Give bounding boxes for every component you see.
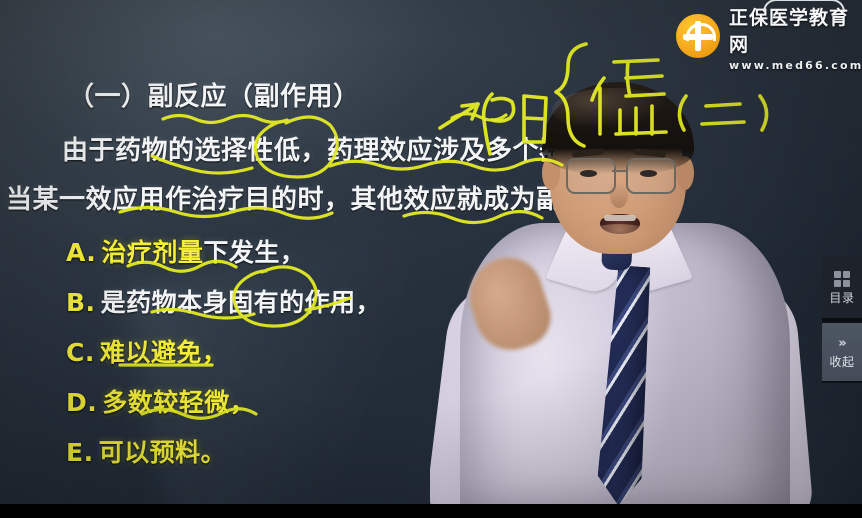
cross-circle-icon [676,14,720,58]
slide-title: （一）副反应（副作用） [68,76,360,113]
brand-arc-decoration [763,0,845,12]
option-a-marker: A. [66,238,96,267]
option-b-text-lead: 是药物本身 [101,288,229,317]
option-b-text: 的作用， [279,288,381,317]
lecturer-chin [580,224,658,254]
option-e-text: 可以预料。 [99,438,227,467]
brand-name-text: 正保医学教育网 [729,7,849,56]
option-d-marker: D. [66,388,97,417]
lecturer-nose [610,182,628,208]
catalog-button[interactable]: 目录 [822,256,862,318]
collapse-button[interactable]: » 收起 [822,321,862,383]
lecturer-video-figure [430,58,860,504]
brand-logo: 正保医学教育网 www.med66.com [676,10,856,62]
option-a-highlight: 治疗剂量 [101,238,203,267]
option-a: A.治疗剂量下发生， [66,233,305,269]
video-player-frame: （一）副反应（副作用） 由于药物的选择性低，药理效应涉及多个器 当某一效应用作治… [0,0,862,518]
player-bottom-bar [0,504,862,518]
lecturer-teeth [604,215,636,221]
brand-logo-text: 正保医学教育网 www.med66.com [729,0,862,72]
option-d-text: 多数较轻微， [102,388,255,417]
option-a-text: 下发生， [203,238,305,267]
option-c-text: 难以避免， [100,338,228,367]
lecturer-hair-highlight [552,88,676,132]
option-c: C.难以避免， [66,333,227,369]
chevron-double-right-icon: » [838,337,845,350]
option-e: E.可以预料。 [66,433,226,469]
grid-icon [834,271,850,287]
option-d: D.多数较轻微， [66,383,255,419]
option-b-marker: B. [66,288,96,317]
option-b: B.是药物本身固有的作用， [66,283,381,319]
brand-name: 正保医学教育网 [729,0,862,57]
brand-website: www.med66.com [729,59,862,72]
option-e-marker: E. [66,438,94,467]
lecturer-glasses-bridge [612,170,626,172]
collapse-button-label: 收起 [829,356,854,368]
player-side-panel: 目录 » 收起 [822,256,862,383]
lecturer-glasses-left-lens [566,158,616,194]
catalog-button-label: 目录 [829,292,854,304]
lecturer-glasses-right-lens [626,158,676,194]
option-b-highlight: 固有 [228,288,279,317]
option-c-marker: C. [66,338,95,367]
